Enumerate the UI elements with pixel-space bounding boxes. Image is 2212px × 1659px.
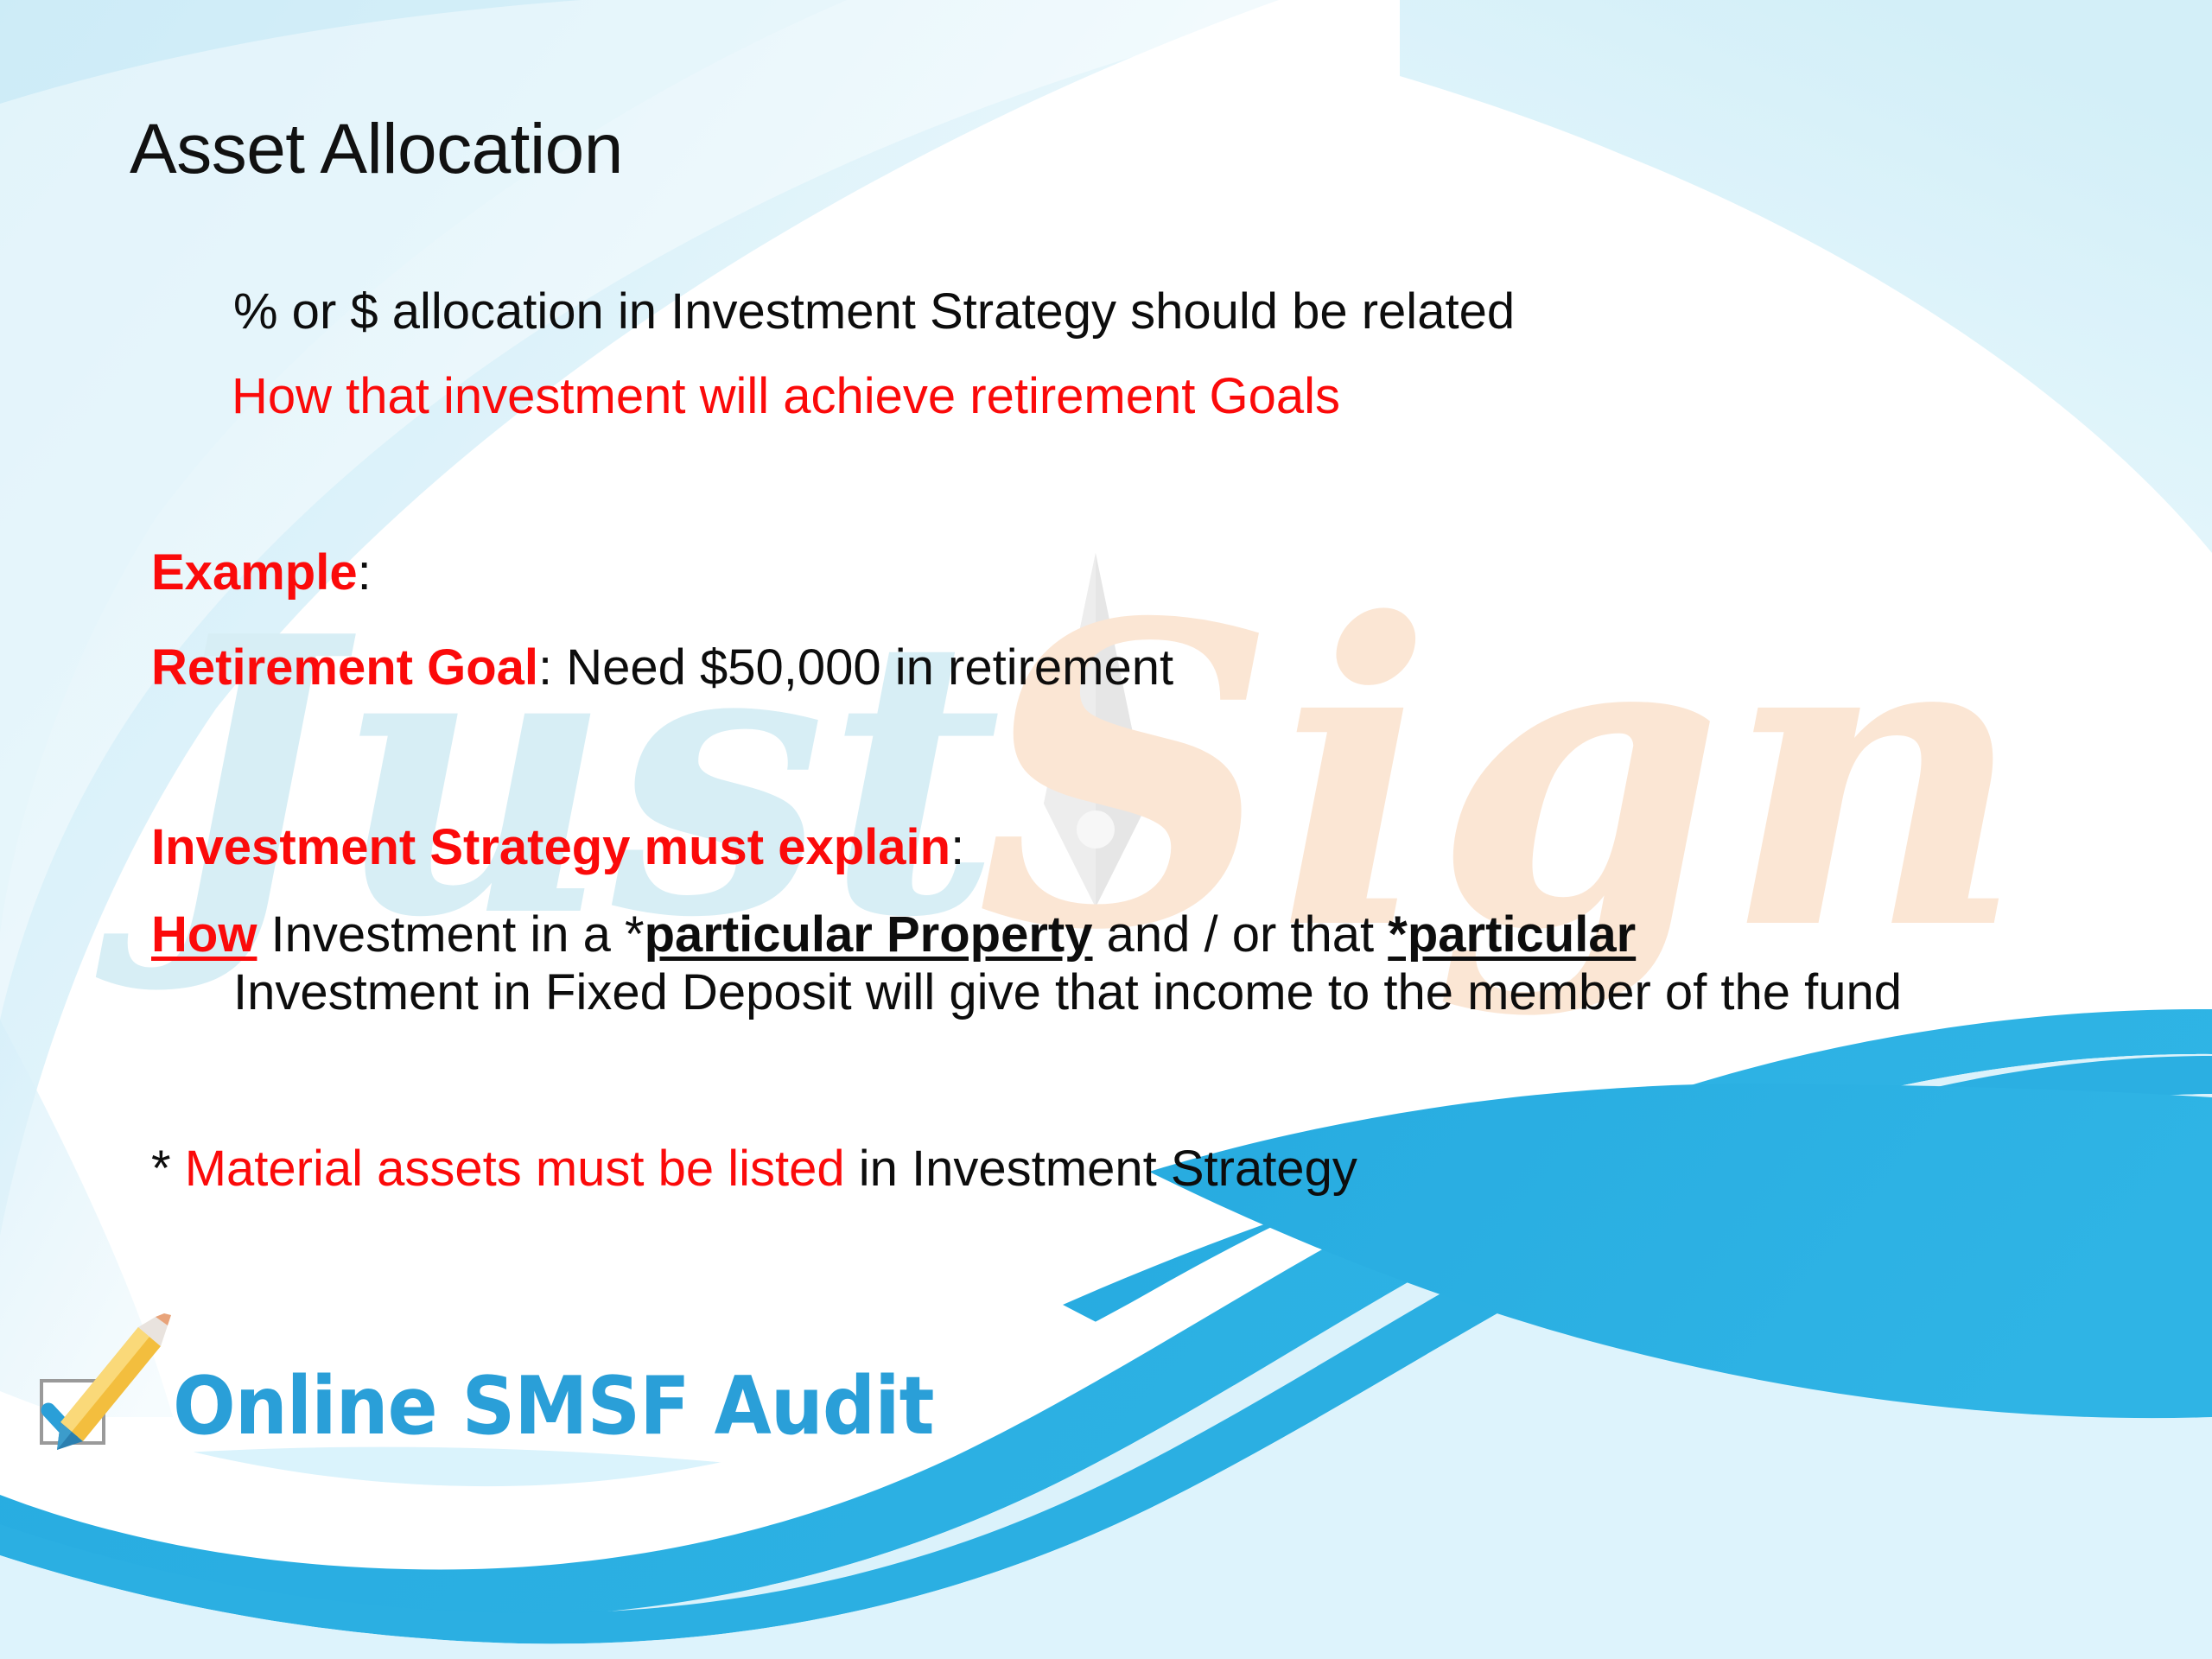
material-asterisk: * — [151, 1141, 185, 1197]
retirement-goal-value: : Need $50,000 in retirement — [538, 639, 1173, 696]
example-colon: : — [358, 544, 372, 601]
material-assets-line: * Material assets must be listed in Inve… — [151, 1142, 1357, 1195]
how-text-segment-1: Investment in a * — [257, 906, 644, 963]
retirement-goal-line: Retirement Goal: Need $50,000 in retirem… — [151, 641, 1173, 694]
particular-property-emphasis: particular Property — [645, 906, 1093, 963]
how-achieve-line: How that investment will achieve retirem… — [232, 370, 1340, 423]
how-text-segment-3: Investment in Fixed Deposit will give th… — [151, 963, 1992, 1021]
example-label: Example — [151, 544, 358, 601]
example-label-line: Example: — [151, 546, 372, 599]
must-explain-line: Investment Strategy must explain: — [151, 821, 964, 874]
material-assets-black-text: in Investment Strategy — [845, 1141, 1357, 1197]
how-investment-block: How Investment in a *particular Property… — [151, 906, 1992, 1022]
allocation-line: % or $ allocation in Investment Strategy… — [233, 285, 1515, 338]
logo-text: Online SMSF Audit — [173, 1366, 934, 1460]
how-keyword: How — [151, 906, 257, 963]
must-explain-colon: : — [950, 819, 964, 875]
brand-logo: Online SMSF Audit — [35, 1296, 1000, 1460]
checkbox-checked-icon — [35, 1313, 173, 1460]
retirement-goal-label: Retirement Goal — [151, 639, 538, 696]
presentation-slide: Just Sign Asset Allocation % or $ alloca… — [0, 0, 2212, 1659]
particular-emphasis: *particular — [1388, 906, 1636, 963]
must-explain-label: Investment Strategy must explain — [151, 819, 950, 875]
page-title: Asset Allocation — [130, 114, 623, 185]
logo-mark — [35, 1313, 173, 1460]
material-assets-red-text: Material assets must be listed — [185, 1141, 845, 1197]
how-text-segment-2: and / or that — [1093, 906, 1389, 963]
